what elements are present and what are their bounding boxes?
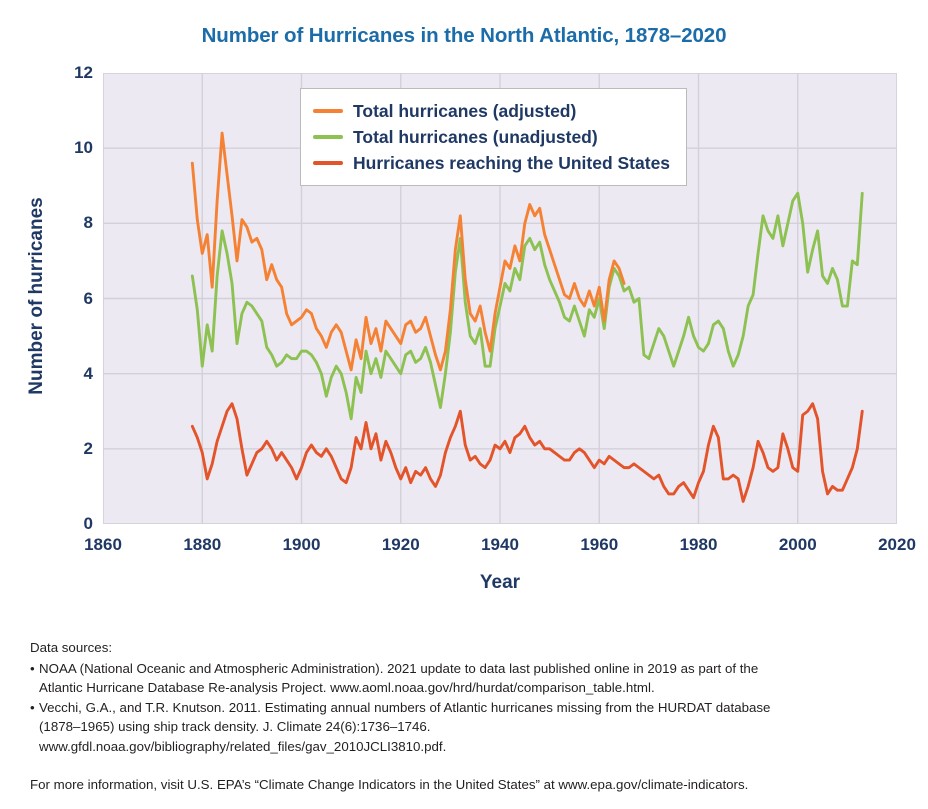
- legend-item-adjusted: Total hurricanes (adjusted): [313, 98, 670, 124]
- data-source-noaa-line1: NOAA (National Oceanic and Atmospheric A…: [39, 661, 758, 676]
- x-tick-label: 1900: [262, 535, 342, 555]
- x-tick-label: 1860: [63, 535, 143, 555]
- x-axis-label: Year: [103, 572, 897, 594]
- x-tick-label: 1980: [659, 535, 739, 555]
- x-tick-label: 2000: [758, 535, 838, 555]
- series-line: [192, 193, 862, 419]
- more-information-note: For more information, visit U.S. EPA’s “…: [30, 775, 910, 795]
- data-sources-list: NOAA (National Oceanic and Atmospheric A…: [30, 659, 910, 757]
- x-tick-label: 1940: [460, 535, 540, 555]
- y-tick-label: 2: [33, 439, 93, 459]
- x-tick-label: 1880: [162, 535, 242, 555]
- data-source-vecchi-line2: (1878–1965) using ship track density. J.…: [39, 719, 431, 734]
- y-tick-label: 10: [33, 138, 93, 158]
- legend-line-icon-unadjusted: [313, 135, 343, 139]
- legend-label-unadjusted: Total hurricanes (unadjusted): [353, 127, 598, 148]
- legend-item-us-landfall: Hurricanes reaching the United States: [313, 150, 670, 176]
- legend-line-icon-adjusted: [313, 109, 343, 113]
- y-axis-label: Number of hurricanes: [26, 196, 48, 396]
- chart-page: Number of Hurricanes in the North Atlant…: [0, 0, 928, 809]
- page-title: Number of Hurricanes in the North Atlant…: [0, 24, 928, 48]
- data-source-noaa-line2: Atlantic Hurricane Database Re-analysis …: [39, 680, 655, 695]
- x-tick-label: 1960: [559, 535, 639, 555]
- y-tick-label: 0: [33, 514, 93, 534]
- data-source-vecchi-line1: Vecchi, G.A., and T.R. Knutson. 2011. Es…: [39, 700, 770, 715]
- data-source-noaa: NOAA (National Oceanic and Atmospheric A…: [30, 659, 910, 698]
- legend-label-adjusted: Total hurricanes (adjusted): [353, 101, 576, 122]
- legend-label-us-landfall: Hurricanes reaching the United States: [353, 153, 670, 174]
- footer-notes: Data sources: NOAA (National Oceanic and…: [30, 638, 910, 808]
- data-source-vecchi: Vecchi, G.A., and T.R. Knutson. 2011. Es…: [30, 698, 910, 757]
- legend-item-unadjusted: Total hurricanes (unadjusted): [313, 124, 670, 150]
- data-source-vecchi-line3: www.gfdl.noaa.gov/bibliography/related_f…: [39, 739, 446, 754]
- x-tick-label: 2020: [857, 535, 928, 555]
- x-tick-label: 1920: [361, 535, 441, 555]
- series-line: [192, 404, 862, 502]
- data-sources-heading: Data sources:: [30, 638, 910, 658]
- legend-line-icon-us-landfall: [313, 161, 343, 165]
- y-tick-label: 12: [33, 63, 93, 83]
- chart-legend: Total hurricanes (adjusted) Total hurric…: [300, 88, 687, 186]
